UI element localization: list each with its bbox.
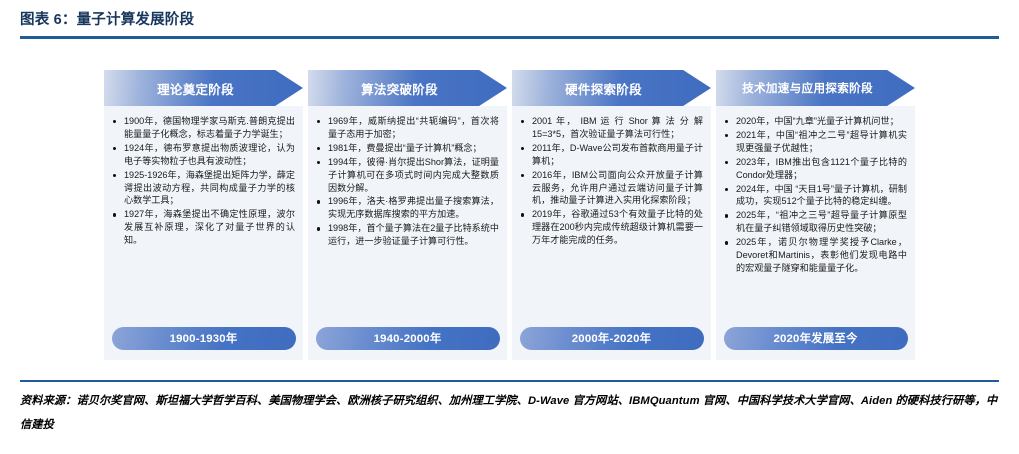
- stage-bullet-list-3: 2001 年， IBM 运 行 Shor 算 法 分 解 15=3*5，首次验证…: [520, 115, 703, 247]
- stage-period-label-3: 2000年-2020年: [572, 330, 651, 346]
- stage-period-pill-2: 1940-2000年: [316, 327, 500, 350]
- footer-divider: [20, 380, 999, 382]
- stage-column-3: 硬件探索阶段 2001 年， IBM 运 行 Shor 算 法 分 解 15=3…: [512, 70, 711, 360]
- list-item: 1996年，洛夫·格罗弗提出量子搜索算法，实现无序数据库搜索的平方加速。: [316, 195, 499, 221]
- stage-period-pill-1: 1900-1930年: [112, 327, 296, 350]
- stage-period-wrap-4: 2020年发展至今: [716, 316, 915, 360]
- stage-bullet-list-2: 1969年，威斯纳提出“共轭编码”，首次将量子态用于加密； 1981年，费曼提出…: [316, 115, 499, 248]
- stage-period-label-4: 2020年发展至今: [773, 330, 857, 346]
- list-item: 1981年，费曼提出“量子计算机”概念；: [316, 142, 499, 155]
- list-item: 2016年，IBM公司面向公众开放量子计算云服务，允许用户通过云端访问量子计算机…: [520, 169, 703, 208]
- chart-header: 图表 6：量子计算发展阶段: [20, 8, 999, 39]
- stage-bullet-list-1: 1900年，德国物理学家马斯克.普朗克提出能量量子化概念，标志着量子力学诞生； …: [112, 115, 295, 247]
- stage-period-pill-4: 2020年发展至今: [724, 327, 908, 350]
- stage-title-2: 算法突破阶段: [361, 79, 438, 98]
- stage-period-pill-3: 2000年-2020年: [520, 327, 704, 350]
- stage-diagram: 理论奠定阶段 1900年，德国物理学家马斯克.普朗克提出能量量子化概念，标志着量…: [0, 60, 1019, 375]
- list-item: 2020年，中国“九章”光量子计算机问世；: [724, 115, 907, 128]
- stage-period-label-1: 1900-1930年: [170, 330, 238, 346]
- stage-period-wrap-1: 1900-1930年: [104, 316, 303, 360]
- stage-period-wrap-3: 2000年-2020年: [512, 316, 711, 360]
- list-item: 2001 年， IBM 运 行 Shor 算 法 分 解 15=3*5，首次验证…: [520, 115, 703, 141]
- stage-header-arrow-1: 理论奠定阶段: [104, 70, 303, 106]
- stage-column-1: 理论奠定阶段 1900年，德国物理学家马斯克.普朗克提出能量量子化概念，标志着量…: [104, 70, 303, 360]
- stage-header-arrow-3: 硬件探索阶段: [512, 70, 711, 106]
- list-item: 2011年，D-Wave公司发布首款商用量子计算机；: [520, 142, 703, 168]
- list-item: 2021年，中国“祖冲之二号”超导计算机实现更强量子优越性；: [724, 129, 907, 155]
- stage-header-arrow-4: 技术加速与应用探索阶段: [716, 70, 915, 106]
- list-item: 2025年，诺贝尔物理学奖授予Clarke，Devoret和Martinis，表…: [724, 236, 907, 275]
- stage-title-4: 技术加速与应用探索阶段: [742, 80, 873, 96]
- header-divider: [20, 36, 999, 39]
- stage-period-label-2: 1940-2000年: [374, 330, 442, 346]
- list-item: 2023年，IBM推出包含1121个量子比特的Condor处理器；: [724, 156, 907, 182]
- list-item: 2019年，谷歌通过53个有效量子比特的处理器在200秒内完成传统超级计算机需要…: [520, 208, 703, 247]
- stage-bullet-list-4: 2020年，中国“九章”光量子计算机问世； 2021年，中国“祖冲之二号”超导计…: [724, 115, 907, 275]
- source-note: 资料来源：诺贝尔奖官网、斯坦福大学哲学百科、美国物理学会、欧洲核子研究组织、加州…: [20, 389, 1003, 437]
- list-item: 1900年，德国物理学家马斯克.普朗克提出能量量子化概念，标志着量子力学诞生；: [112, 115, 295, 141]
- stage-column-2: 算法突破阶段 1969年，威斯纳提出“共轭编码”，首次将量子态用于加密； 198…: [308, 70, 507, 360]
- list-item: 1925-1926年，海森堡提出矩阵力学，薛定谔提出波动方程，共同构成量子力学的…: [112, 169, 295, 208]
- stage-period-wrap-2: 1940-2000年: [308, 316, 507, 360]
- list-item: 2025年，“祖冲之三号”超导量子计算原型机在量子纠错领域取得历史性突破；: [724, 209, 907, 235]
- list-item: 1994年，彼得·肖尔提出Shor算法，证明量子计算机可在多项式时间内完成大整数…: [316, 156, 499, 195]
- page-title: 图表 6：量子计算发展阶段: [20, 8, 999, 29]
- stage-columns: 理论奠定阶段 1900年，德国物理学家马斯克.普朗克提出能量量子化概念，标志着量…: [104, 70, 916, 360]
- list-item: 2024年，中国 “天目1号”量子计算机，研制成功，实现512个量子比特的稳定纠…: [724, 183, 907, 209]
- list-item: 1924年，德布罗意提出物质波理论，认为电子等实物粒子也具有波动性；: [112, 142, 295, 168]
- list-item: 1927年，海森堡提出不确定性原理，波尔发展互补原理，深化了对量子世界的认知。: [112, 208, 295, 247]
- stage-header-arrow-2: 算法突破阶段: [308, 70, 507, 106]
- stage-title-1: 理论奠定阶段: [157, 79, 234, 98]
- list-item: 1969年，威斯纳提出“共轭编码”，首次将量子态用于加密；: [316, 115, 499, 141]
- list-item: 1998年，首个量子算法在2量子比特系统中运行，进一步验证量子计算可行性。: [316, 222, 499, 248]
- stage-title-3: 硬件探索阶段: [565, 79, 642, 98]
- stage-column-4: 技术加速与应用探索阶段 2020年，中国“九章”光量子计算机问世； 2021年，…: [716, 70, 915, 360]
